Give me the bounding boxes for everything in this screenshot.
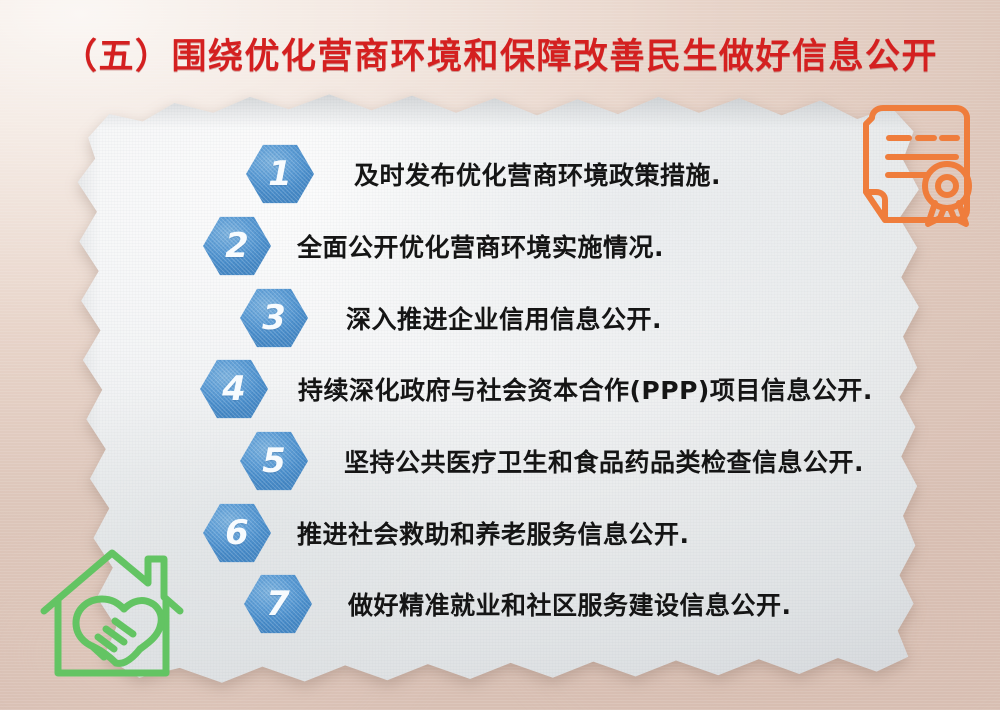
house-handshake-icon <box>36 545 188 685</box>
list-item: 1 及时发布优化营商环境政策措施. <box>246 143 721 205</box>
list-item-text: 深入推进企业信用信息公开. <box>346 300 662 336</box>
list-item: 7 做好精准就业和社区服务建设信息公开. <box>244 573 792 635</box>
list-item-text: 做好精准就业和社区服务建设信息公开. <box>348 586 792 622</box>
number-badge-hexagon: 5 <box>240 430 308 492</box>
handshake-right-arm <box>124 600 161 649</box>
certificate-seal-outer <box>925 164 969 208</box>
handshake-finger-3 <box>115 621 133 634</box>
badge-number: 5 <box>262 444 286 478</box>
list-item: 3 深入推进企业信用信息公开. <box>240 287 662 349</box>
list-item-text: 坚持公共医疗卫生和食品药品类检查信息公开. <box>344 443 864 479</box>
list-item: 5 坚持公共医疗卫生和食品药品类检查信息公开. <box>240 430 864 492</box>
badge-number: 2 <box>225 229 249 263</box>
number-badge-hexagon: 7 <box>244 573 312 635</box>
badge-number: 4 <box>222 372 246 406</box>
list-item: 6 推进社会救助和养老服务信息公开. <box>203 502 690 564</box>
badge-number: 1 <box>268 157 292 191</box>
certificate-folded-corner <box>866 192 885 220</box>
number-badge-hexagon: 3 <box>240 287 308 349</box>
list-item-text: 全面公开优化营商环境实施情况. <box>297 228 664 264</box>
certificate-seal-inner <box>938 177 956 195</box>
handshake-clasp <box>116 649 140 663</box>
certificate-icon <box>852 100 988 232</box>
infographic-poster: （五）围绕优化营商环境和保障改善民生做好信息公开 1 及时发布优化营商环境政策措… <box>0 0 1000 710</box>
badge-number: 3 <box>262 301 286 335</box>
number-badge-hexagon: 2 <box>203 215 271 277</box>
handshake-finger-2 <box>106 629 124 642</box>
list-item-text: 持续深化政府与社会资本合作(PPP)项目信息公开. <box>298 371 873 407</box>
list-item-text: 及时发布优化营商环境政策措施. <box>354 156 721 192</box>
number-badge-hexagon: 6 <box>203 502 271 564</box>
badge-number: 7 <box>266 587 290 621</box>
number-badge-hexagon: 4 <box>200 358 268 420</box>
list-item: 2 全面公开优化营商环境实施情况. <box>203 215 664 277</box>
number-badge-hexagon: 1 <box>246 143 314 205</box>
list-item-text: 推进社会救助和养老服务信息公开. <box>297 515 690 551</box>
list-item: 4 持续深化政府与社会资本合作(PPP)项目信息公开. <box>200 358 873 420</box>
badge-number: 6 <box>225 516 249 550</box>
